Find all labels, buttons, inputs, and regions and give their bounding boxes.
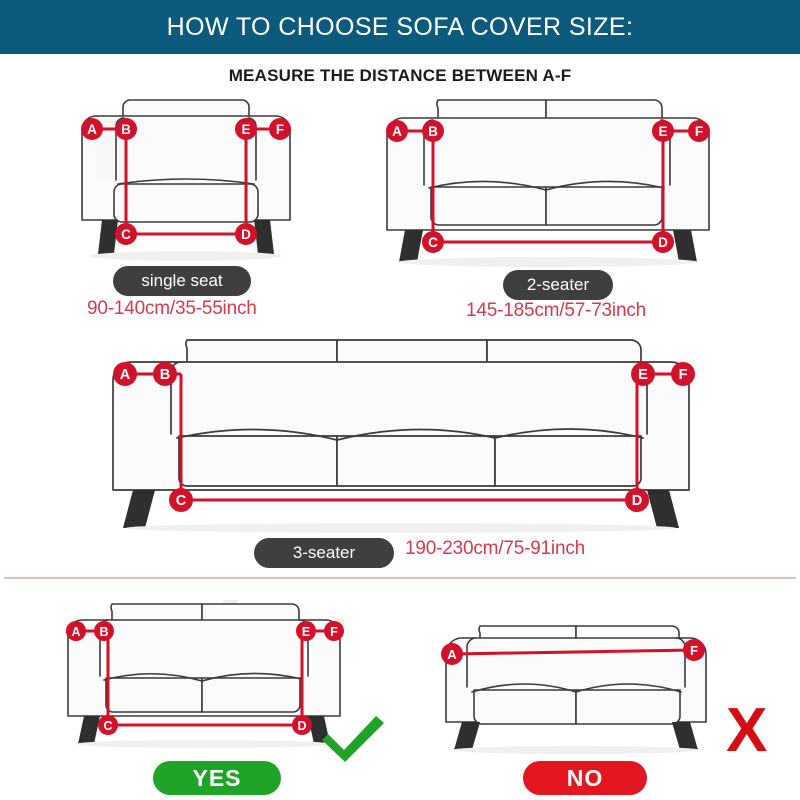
- two-seater-figure: A B C D E F: [375, 92, 720, 267]
- svg-text:C: C: [103, 719, 112, 733]
- marker-f: F: [688, 120, 710, 142]
- single-seat-label: single seat: [113, 266, 251, 296]
- three-seater-dimension: 190-230cm/75-91inch: [405, 538, 585, 560]
- marker-f: F: [269, 118, 291, 140]
- seat-cushion-left: [474, 690, 576, 724]
- svg-text:F: F: [690, 643, 698, 658]
- svg-text:E: E: [638, 367, 648, 383]
- svg-text:D: D: [297, 719, 306, 733]
- page-title: HOW TO CHOOSE SOFA COVER SIZE:: [167, 13, 634, 42]
- svg-text:C: C: [428, 235, 438, 250]
- seat-cushion-right: [202, 678, 300, 712]
- two-seater-label: 2-seater: [503, 270, 613, 300]
- seat-cushion: [114, 184, 258, 222]
- single-seat-dimension: 90-140cm/35-55inch: [87, 298, 257, 320]
- svg-text:F: F: [695, 124, 703, 139]
- svg-text:D: D: [658, 235, 668, 250]
- svg-text:A: A: [392, 124, 402, 139]
- three-seater-label: 3-seater: [254, 538, 394, 568]
- svg-text:A: A: [120, 367, 131, 383]
- marker-b: B: [153, 362, 177, 386]
- marker-a: A: [441, 643, 463, 665]
- marker-a: A: [113, 362, 137, 386]
- svg-text:D: D: [241, 227, 251, 242]
- seat-cushion-left: [179, 436, 337, 486]
- marker-d: D: [652, 231, 674, 253]
- two-seater-dimension: 145-185cm/57-73inch: [466, 300, 646, 322]
- svg-text:E: E: [658, 124, 667, 139]
- marker-f: F: [324, 621, 344, 641]
- marker-e: E: [235, 118, 257, 140]
- svg-text:C: C: [176, 493, 187, 509]
- svg-text:E: E: [302, 625, 310, 639]
- marker-e: E: [652, 120, 674, 142]
- legs: [454, 722, 698, 750]
- svg-text:B: B: [121, 122, 131, 137]
- marker-f: F: [683, 639, 705, 661]
- infographic-page: HOW TO CHOOSE SOFA COVER SIZE: MEASURE T…: [0, 0, 800, 800]
- yes-button[interactable]: YES: [153, 761, 281, 795]
- marker-c: C: [422, 231, 444, 253]
- marker-d: D: [235, 223, 257, 245]
- seat-cushion-right: [495, 436, 641, 486]
- svg-text:C: C: [121, 227, 131, 242]
- marker-e: E: [296, 621, 316, 641]
- svg-text:F: F: [330, 625, 338, 639]
- three-seater-figure: A B C D E F: [95, 332, 705, 532]
- marker-c: C: [169, 488, 193, 512]
- marker-d: D: [625, 488, 649, 512]
- svg-text:A: A: [87, 122, 97, 137]
- seat-cushion-right: [576, 690, 680, 724]
- single-seat-figure: A B C D E: [78, 92, 294, 262]
- marker-e: E: [631, 362, 655, 386]
- seat-cushion-left: [106, 678, 202, 712]
- marker-a: A: [386, 120, 408, 142]
- marker-b: B: [422, 120, 444, 142]
- header-bar: HOW TO CHOOSE SOFA COVER SIZE:: [0, 0, 800, 54]
- subtitle: MEASURE THE DISTANCE BETWEEN A-F: [0, 66, 800, 86]
- section-divider: [4, 577, 796, 579]
- svg-text:D: D: [632, 493, 642, 509]
- svg-text:B: B: [99, 625, 108, 639]
- marker-b: B: [94, 621, 114, 641]
- no-button[interactable]: NO: [523, 761, 647, 795]
- svg-text:A: A: [447, 647, 457, 662]
- svg-text:E: E: [241, 122, 250, 137]
- marker-a: A: [81, 118, 103, 140]
- marker-c: C: [98, 715, 118, 735]
- marker-b: B: [115, 118, 137, 140]
- svg-text:F: F: [679, 367, 688, 383]
- svg-text:A: A: [71, 625, 80, 639]
- svg-text:B: B: [428, 124, 438, 139]
- marker-a: A: [66, 621, 86, 641]
- seat-cushion-right: [546, 187, 662, 225]
- legs: [123, 490, 679, 528]
- svg-text:F: F: [276, 122, 284, 137]
- seat-cushion-left: [431, 187, 546, 225]
- wrong-example-figure: A F: [432, 600, 722, 750]
- x-mark-icon: X: [726, 700, 767, 762]
- correct-example-figure: A B C D E F: [58, 598, 348, 748]
- svg-text:B: B: [160, 367, 170, 383]
- marker-f: F: [671, 362, 695, 386]
- check-mark-icon: [318, 712, 388, 771]
- seat-cushion-center: [337, 436, 495, 486]
- marker-c: C: [115, 223, 137, 245]
- marker-d: D: [292, 715, 312, 735]
